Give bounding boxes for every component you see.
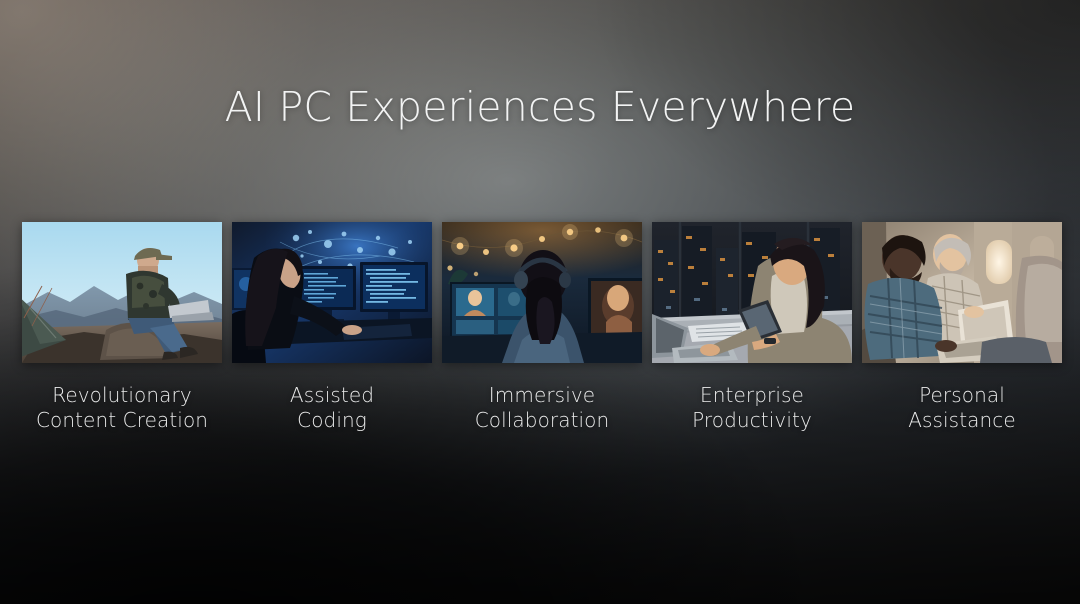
airplane-cabin-illustration: [862, 222, 1062, 363]
video-call-illustration: [442, 222, 642, 363]
card-caption: Personal Assistance: [862, 383, 1062, 433]
caption-line-1: Immersive: [489, 383, 595, 407]
caption-line-2: Productivity: [652, 408, 852, 433]
caption-line-2: Content Creation: [22, 408, 222, 433]
developer-workstation-illustration: [232, 222, 432, 363]
caption-line-2: Collaboration: [442, 408, 642, 433]
experience-card-revolutionary-content-creation[interactable]: Revolutionary Content Creation: [22, 222, 222, 433]
night-office-illustration: [652, 222, 852, 363]
caption-line-1: Revolutionary: [52, 383, 192, 407]
thumbnail-assisted-coding[interactable]: [232, 222, 432, 363]
slide-canvas: AI PC Experiences Everywhere: [0, 0, 1080, 604]
experience-card-immersive-collaboration[interactable]: Immersive Collaboration: [442, 222, 642, 433]
caption-line-1: Assisted: [290, 383, 374, 407]
page-title: AI PC Experiences Everywhere: [0, 83, 1080, 131]
thumbnail-enterprise-productivity[interactable]: [652, 222, 852, 363]
caption-line-2: Coding: [232, 408, 432, 433]
thumbnail-personal-assistance[interactable]: [862, 222, 1062, 363]
card-caption: Revolutionary Content Creation: [22, 383, 222, 433]
outdoor-laptop-illustration: [22, 222, 222, 363]
experience-card-personal-assistance[interactable]: Personal Assistance: [862, 222, 1062, 433]
experience-card-row: Revolutionary Content Creation: [22, 222, 1062, 433]
caption-line-2: Assistance: [862, 408, 1062, 433]
thumbnail-immersive-collaboration[interactable]: [442, 222, 642, 363]
card-caption: Assisted Coding: [232, 383, 432, 433]
thumbnail-revolutionary-content-creation[interactable]: [22, 222, 222, 363]
experience-card-assisted-coding[interactable]: Assisted Coding: [232, 222, 432, 433]
card-caption: Immersive Collaboration: [442, 383, 642, 433]
caption-line-1: Enterprise: [700, 383, 804, 407]
card-caption: Enterprise Productivity: [652, 383, 852, 433]
experience-card-enterprise-productivity[interactable]: Enterprise Productivity: [652, 222, 852, 433]
caption-line-1: Personal: [919, 383, 1005, 407]
